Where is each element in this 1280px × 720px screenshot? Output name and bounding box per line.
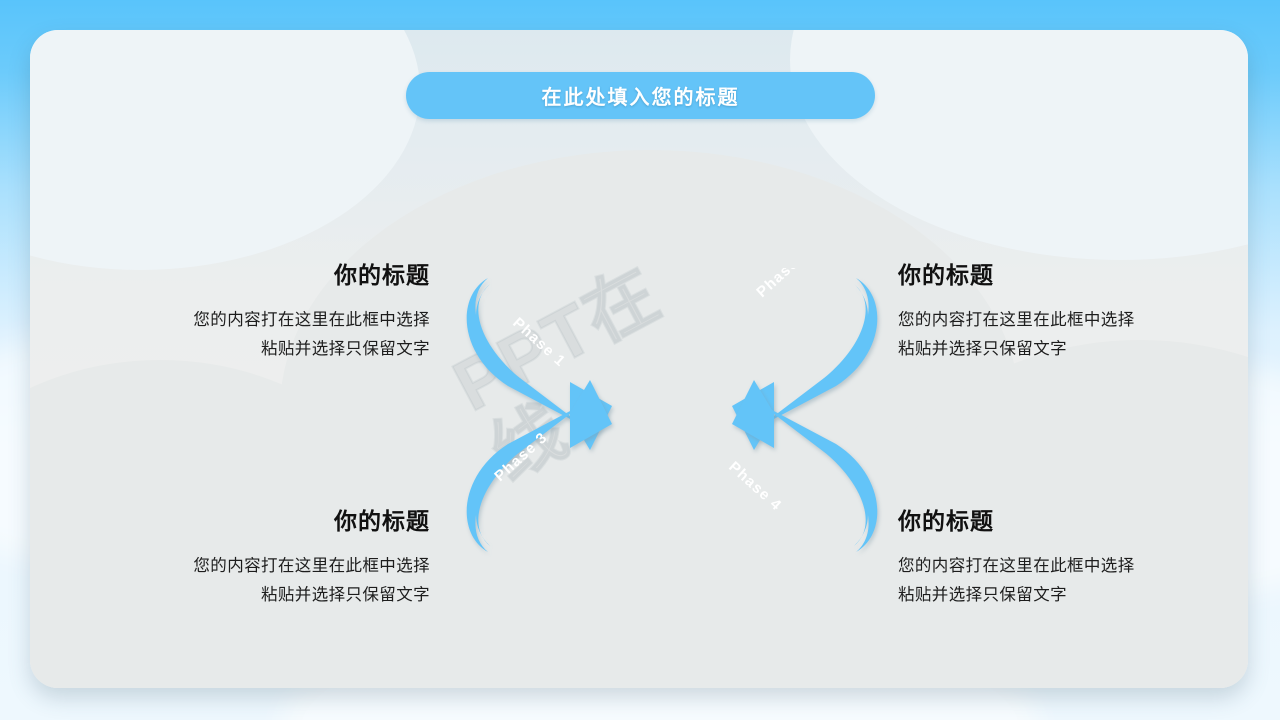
block-body-line2-top-left: 粘贴并选择只保留文字 (100, 335, 430, 364)
block-body-line2-top-right: 粘贴并选择只保留文字 (898, 335, 1228, 364)
block-body-line1-bottom-right: 您的内容打在这里在此框中选择 (898, 552, 1228, 581)
block-body-line2-bottom-right: 粘贴并选择只保留文字 (898, 581, 1228, 610)
text-block-bottom-left: 你的标题 您的内容打在这里在此框中选择 粘贴并选择只保留文字 (100, 502, 430, 610)
arrow-label-phase-4: Phase 4 (725, 458, 785, 514)
arrow-phase-3[interactable] (467, 380, 612, 552)
slide-canvas: 在此处填入您的标题 PPT在线 你的标题 您的内容打在这里在此框中选择 粘贴并选… (0, 0, 1280, 720)
text-block-top-left: 你的标题 您的内容打在这里在此框中选择 粘贴并选择只保留文字 (100, 256, 430, 364)
block-body-line1-top-right: 您的内容打在这里在此框中选择 (898, 306, 1228, 335)
block-title-top-left: 你的标题 (100, 256, 430, 290)
block-body-line1-bottom-left: 您的内容打在这里在此框中选择 (100, 552, 430, 581)
arrow-phase-4[interactable] (732, 380, 877, 552)
converging-arrows-diagram: Phase 1 Phase 2 Phase 3 Ph (460, 268, 884, 562)
text-block-top-right: 你的标题 您的内容打在这里在此框中选择 粘贴并选择只保留文字 (898, 256, 1228, 364)
block-body-line1-top-left: 您的内容打在这里在此框中选择 (100, 306, 430, 335)
card-cloud-top-right (790, 30, 1248, 260)
text-block-bottom-right: 你的标题 您的内容打在这里在此框中选择 粘贴并选择只保留文字 (898, 502, 1228, 610)
block-title-bottom-right: 你的标题 (898, 502, 1228, 536)
block-body-line2-bottom-left: 粘贴并选择只保留文字 (100, 581, 430, 610)
page-title: 在此处填入您的标题 (542, 81, 740, 110)
content-card: 在此处填入您的标题 PPT在线 你的标题 您的内容打在这里在此框中选择 粘贴并选… (30, 30, 1248, 688)
card-cloud-top-left (30, 30, 420, 270)
slide-title-pill[interactable]: 在此处填入您的标题 (406, 72, 875, 119)
arrow-label-phase-2: Phase 2 (753, 268, 813, 301)
block-title-bottom-left: 你的标题 (100, 502, 430, 536)
arrow-label-phase-1: Phase 1 (509, 314, 569, 370)
block-title-top-right: 你的标题 (898, 256, 1228, 290)
